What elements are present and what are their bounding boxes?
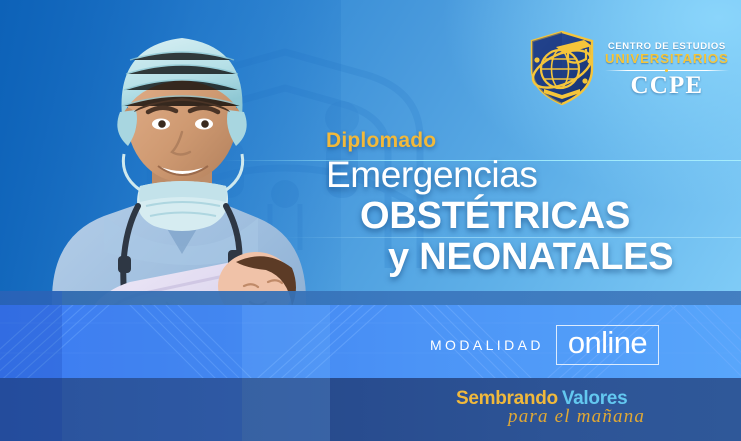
overlay-plate-center xyxy=(62,305,242,441)
brand-tagline: SembrandoValores para el mañana xyxy=(456,389,706,426)
ccpe-logo[interactable]: CENTRO DE ESTUDIOS UNIVERSITARIOS CCPE xyxy=(526,28,714,108)
overlay-plate-right xyxy=(242,305,330,441)
modalidad-row: MODALIDAD online xyxy=(430,325,659,365)
course-title-block: Diplomado Emergencias OBSTÉTRICAS y NEON… xyxy=(300,130,712,277)
overlay-plate-left xyxy=(0,291,62,441)
band-divider-dark xyxy=(0,291,741,305)
tagline-line-2: para el mañana xyxy=(508,407,706,426)
title-kicker-diplomado: Diplomado xyxy=(326,130,712,151)
modalidad-label: MODALIDAD xyxy=(430,338,544,352)
logo-acronym-ccpe: CCPE xyxy=(630,73,703,98)
promo-banner: CENTRO DE ESTUDIOS UNIVERSITARIOS CCPE D… xyxy=(0,0,741,441)
shield-globe-graduation-cap-icon xyxy=(526,29,598,107)
logo-line-universitarios: UNIVERSITARIOS xyxy=(605,52,729,66)
title-line-emergencias: Emergencias xyxy=(326,155,712,195)
title-line-obstetricas: OBSTÉTRICAS xyxy=(360,196,712,236)
logo-divider xyxy=(605,69,729,72)
title-line-neonatales: y NEONATALES xyxy=(388,237,712,277)
modalidad-online-value: online xyxy=(568,327,647,360)
modalidad-online-badge: online xyxy=(556,325,659,365)
logo-wordmark: CENTRO DE ESTUDIOS UNIVERSITARIOS CCPE xyxy=(605,38,729,97)
